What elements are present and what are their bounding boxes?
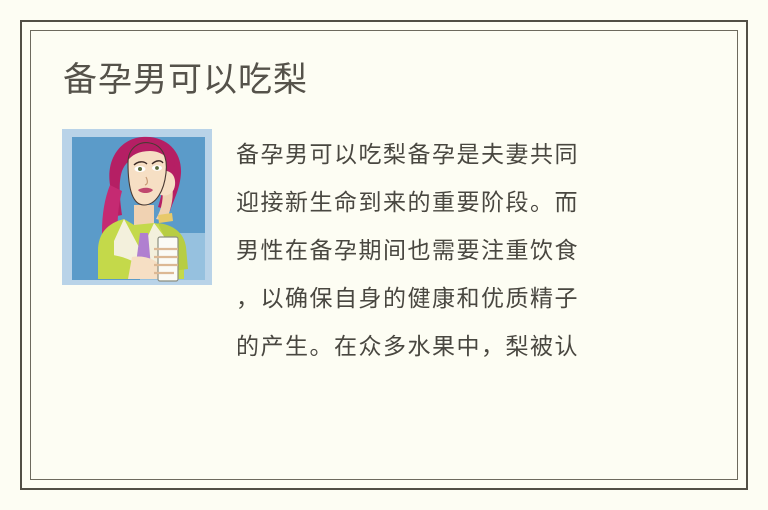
paragraph-line: ，以确保自身的健康和优质精子 [236, 275, 706, 323]
woman-with-glass-illustration [62, 129, 212, 285]
paragraph-line: 男性在备孕期间也需要注重饮食 [236, 227, 706, 275]
article-body: 备孕男可以吃梨备孕是夫妻共同 迎接新生命到来的重要阶段。而 男性在备孕期间也需要… [62, 129, 706, 371]
paragraph-line: 迎接新生命到来的重要阶段。而 [236, 179, 706, 227]
glass [158, 237, 178, 281]
page-title: 备孕男可以吃梨 [62, 60, 706, 101]
article-page: 备孕男可以吃梨 [0, 0, 768, 510]
article-paragraph: 备孕男可以吃梨备孕是夫妻共同 迎接新生命到来的重要阶段。而 男性在备孕期间也需要… [236, 129, 706, 371]
paragraph-line: 备孕男可以吃梨备孕是夫妻共同 [236, 131, 706, 179]
page-content: 备孕男可以吃梨 [30, 30, 738, 480]
paragraph-line: 的产生。在众多水果中，梨被认 [236, 323, 706, 371]
illustration-svg [62, 129, 212, 285]
